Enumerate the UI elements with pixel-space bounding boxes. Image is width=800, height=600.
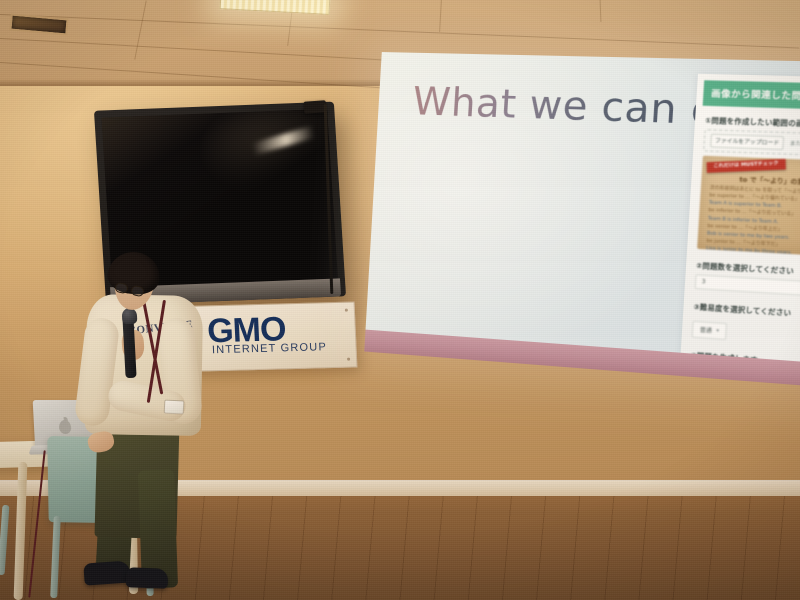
presentation-photo: GMO INTERNET GROUP What we can do 画像から関連… — [0, 0, 800, 600]
name-badge — [164, 399, 185, 414]
microphone-head — [122, 308, 138, 325]
presenter-shoe — [83, 560, 130, 585]
presenter-shoe — [126, 567, 169, 588]
presenter: CONVERSE — [0, 0, 800, 600]
